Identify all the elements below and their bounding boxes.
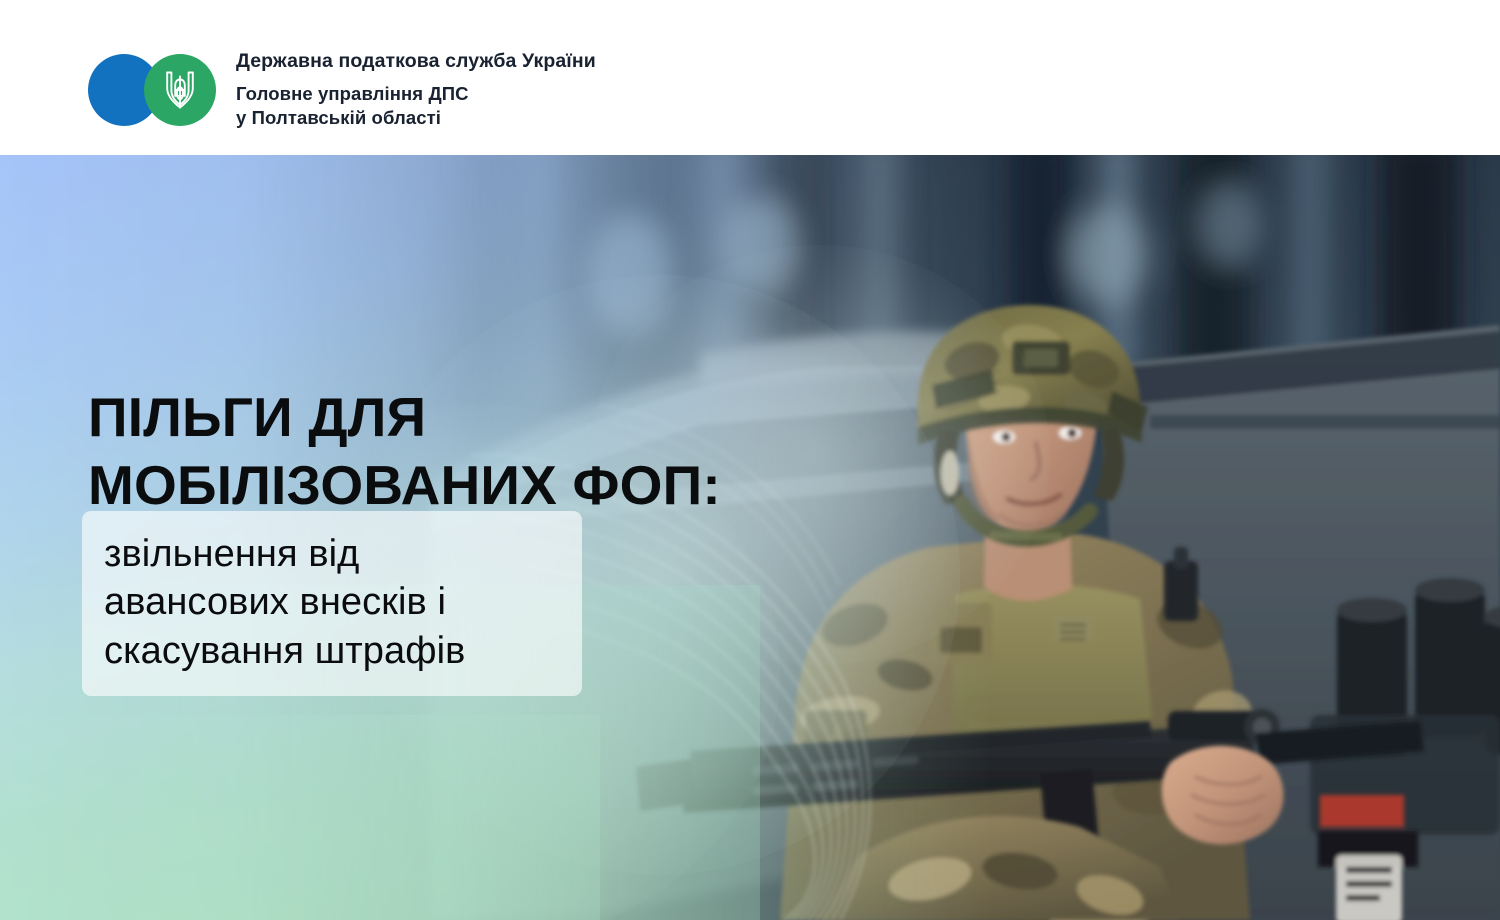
- subtitle-line-1: звільнення від: [104, 530, 560, 578]
- green-circle-icon: [144, 54, 216, 126]
- hero-stage: ПІЛЬГИ ДЛЯ МОБІЛІЗОВАНИХ ФОП: звільнення…: [0, 155, 1500, 920]
- page-title: ПІЛЬГИ ДЛЯ МОБІЛІЗОВАНИХ ФОП:: [88, 383, 721, 519]
- brand-text: Державна податкова служба України Головн…: [236, 48, 596, 131]
- subtitle-card: звільнення від авансових внесків і скасу…: [82, 511, 582, 696]
- brand-block: Державна податкова служба України Головн…: [88, 48, 596, 132]
- org-name-line-1: Державна податкова служба України: [236, 50, 596, 73]
- logo-marks: [88, 48, 212, 132]
- ukraine-trident-icon: [163, 68, 197, 112]
- poster-canvas: Державна податкова служба України Головн…: [0, 0, 1500, 920]
- org-name-line-2: Головне управління ДПС: [236, 82, 596, 106]
- subtitle-line-3: скасування штрафів: [104, 627, 560, 675]
- header-bar: Державна податкова служба України Головн…: [0, 0, 1500, 155]
- headline-line-1: ПІЛЬГИ ДЛЯ: [88, 383, 721, 451]
- subtitle-line-2: авансових внесків і: [104, 578, 560, 626]
- headline-line-2: МОБІЛІЗОВАНИХ ФОП:: [88, 451, 721, 519]
- org-name-line-3: у Полтавській області: [236, 106, 596, 130]
